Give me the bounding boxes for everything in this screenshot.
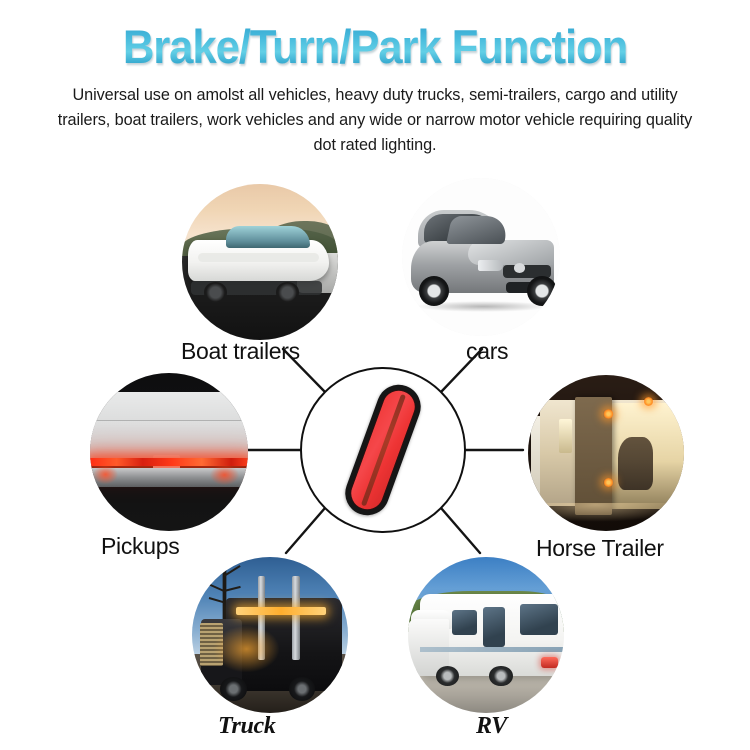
pickups-label: Pickups [101, 533, 179, 560]
hub-circle [300, 367, 466, 533]
horse-trailer-photo [528, 375, 684, 531]
rv-photo [408, 557, 564, 713]
application-hub-diagram: Boat trailers cars [0, 0, 750, 750]
truck-label: Truck [218, 713, 276, 740]
rv-label: RV [476, 713, 507, 740]
boat-trailers-photo [182, 184, 338, 340]
led-light-bar-product [339, 379, 427, 522]
cars-photo [402, 178, 560, 336]
cars-label: cars [466, 338, 508, 365]
boat-trailers-label: Boat trailers [181, 338, 300, 365]
truck-photo [192, 557, 348, 713]
pickups-photo [90, 373, 248, 531]
